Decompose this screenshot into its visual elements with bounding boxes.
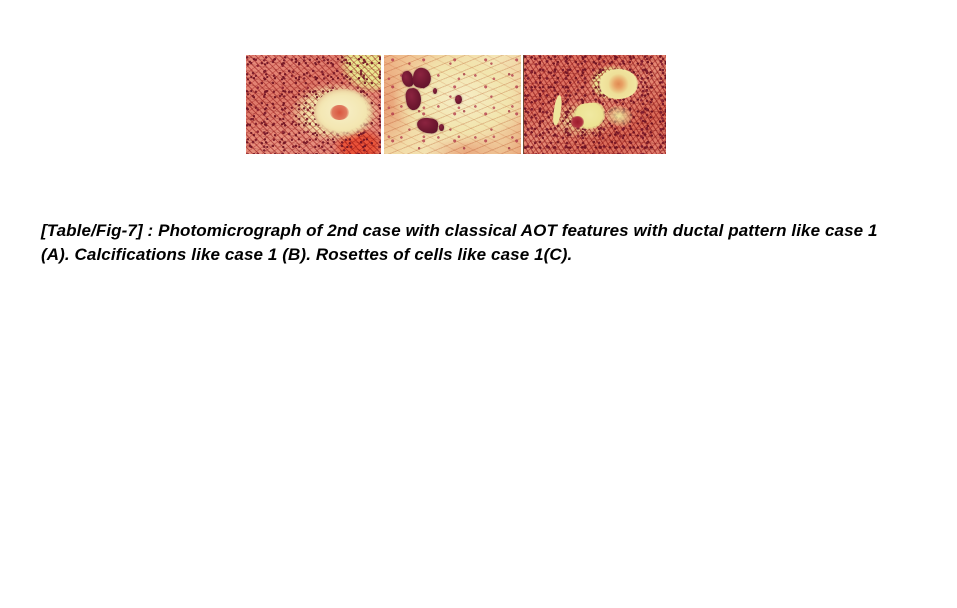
panel-a-ductal-pattern — [246, 55, 381, 154]
calcification-deposit — [455, 95, 462, 104]
panel-c-rosettes — [523, 55, 666, 154]
cell-rosette — [599, 69, 637, 99]
panel-b-speck-texture — [384, 55, 521, 154]
hemorrhagic-focus — [571, 116, 584, 128]
figure-image-strip — [246, 55, 666, 154]
panel-b-calcifications — [384, 55, 521, 154]
panel-a-duct-core — [330, 105, 349, 121]
figure-caption: [Table/Fig-7] : Photomicrograph of 2nd c… — [41, 219, 891, 267]
